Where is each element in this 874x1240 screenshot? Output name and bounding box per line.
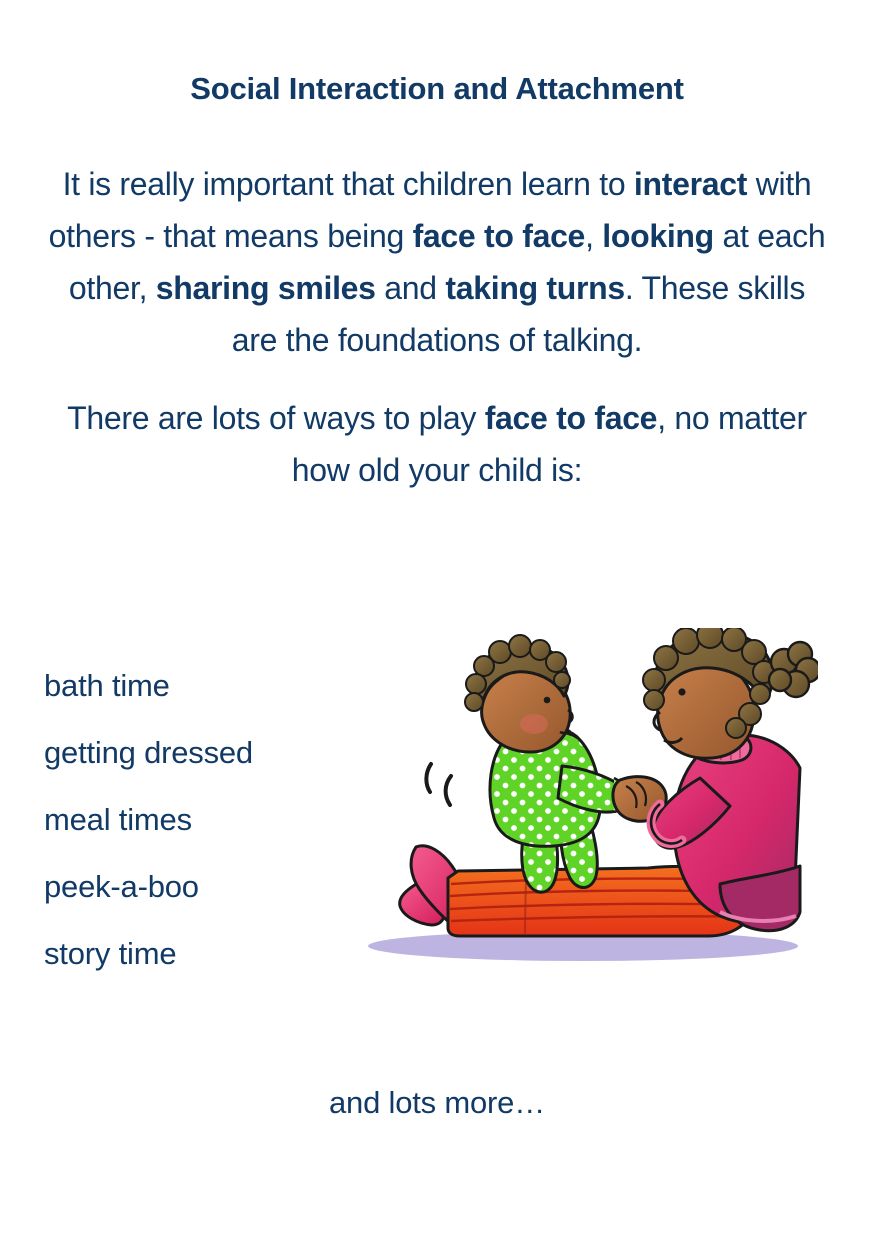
list-item: story time	[44, 920, 374, 987]
activity-list: bath time getting dressed meal times pee…	[44, 652, 374, 987]
paragraph-intro-segment-4: ,	[585, 218, 602, 254]
paragraph-intro-segment-7: sharing smiles	[156, 270, 376, 306]
page-canvas: Social Interaction and Attachment It is …	[0, 0, 874, 1240]
child-head	[465, 635, 573, 752]
paragraph-intro: It is really important that children lea…	[42, 158, 832, 366]
child-eye-icon	[544, 697, 551, 704]
adult-ponytail	[769, 642, 818, 697]
paragraph-intro-segment-5: looking	[602, 218, 714, 254]
illustration-svg	[348, 628, 818, 973]
list-item: bath time	[44, 652, 374, 719]
list-item: getting dressed	[44, 719, 374, 786]
paragraph-intro-segment-1: interact	[634, 166, 747, 202]
adult-and-toddler-face-to-face-illustration	[348, 628, 818, 973]
paragraph-intro-segment-9: taking turns	[445, 270, 625, 306]
motion-lines-icon	[426, 764, 451, 805]
paragraph-ways-to-play: There are lots of ways to play face to f…	[42, 392, 832, 496]
footer-note: and lots more…	[0, 1085, 874, 1121]
paragraph-intro-segment-3: face to face	[413, 218, 585, 254]
adult-eye-icon	[678, 688, 685, 695]
adult-head	[643, 628, 818, 758]
paragraph-ways-segment-1: face to face	[485, 400, 657, 436]
list-item: peek-a-boo	[44, 853, 374, 920]
list-item: meal times	[44, 786, 374, 853]
paragraph-intro-segment-8: and	[376, 270, 446, 306]
paragraph-intro-segment-0: It is really important that children lea…	[63, 166, 634, 202]
body-text-block: It is really important that children lea…	[42, 158, 832, 496]
page-title: Social Interaction and Attachment	[0, 72, 874, 106]
paragraph-ways-segment-0: There are lots of ways to play	[67, 400, 485, 436]
